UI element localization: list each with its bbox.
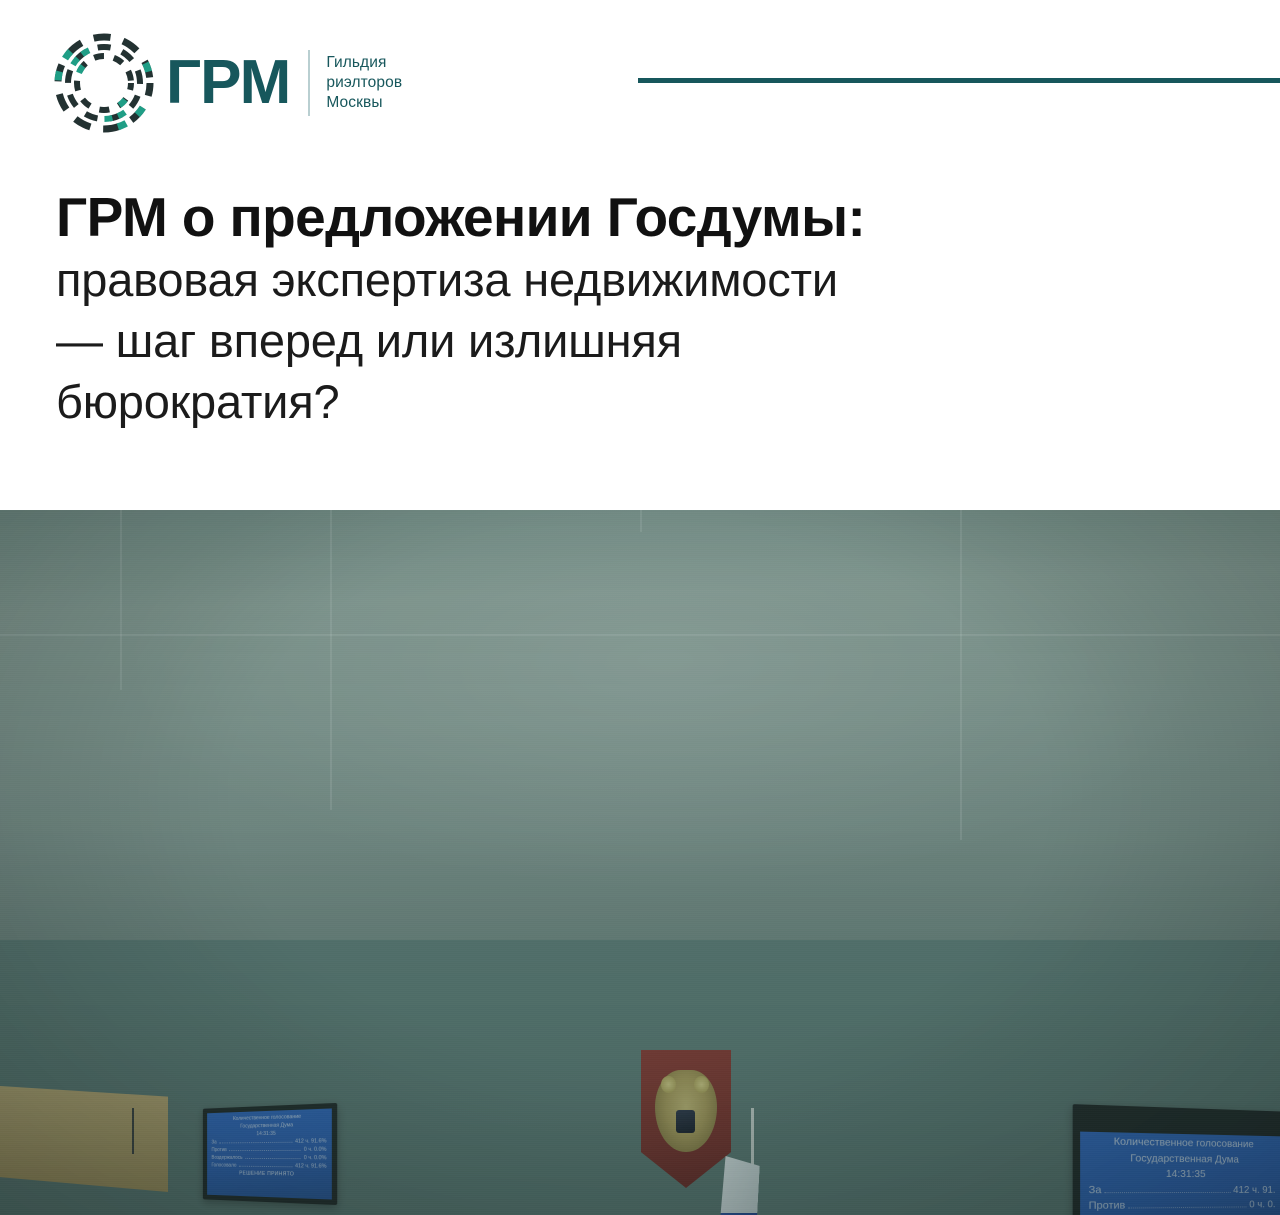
microphone [132,1108,134,1154]
board-left-row: Против0 ч. 0.0% [211,1146,326,1154]
circular-dashed-ring-logo-icon [52,31,156,135]
wall-seam [640,510,642,532]
board-left-row-value: 0 ч. 0.0% [304,1154,327,1162]
voting-board-left: Количественное голосование Государственн… [203,1103,337,1205]
board-left-row-value: 412 ч. 91.6% [295,1137,326,1146]
board-right-row-label: Против [1089,1198,1126,1214]
header-rule [638,78,1280,83]
wall-seam [960,510,962,840]
board-right-row-value: 0 ч. 0. [1249,1198,1275,1213]
brand-tagline: Гильдия риэлторов Москвы [326,53,402,113]
brand-tagline-line-2: риэлторов [326,73,402,93]
board-left-row-value: 0 ч. 0.0% [304,1146,327,1154]
voting-board-right-screen: Количественное голосование Государственн… [1080,1132,1280,1215]
board-right-row: За412 ч. 91. [1089,1182,1276,1198]
board-left-result: РЕШЕНИЕ ПРИНЯТО [211,1169,326,1179]
voting-board-right: Количественное голосование Государственн… [1073,1104,1280,1215]
board-left-row: Голосовало412 ч. 91.6% [211,1162,326,1171]
board-left-row-label: За [211,1139,216,1147]
board-left-row-value: 412 ч. 91.6% [295,1162,326,1171]
wall-seam [120,510,122,690]
board-left-row-label: Против [211,1146,226,1154]
voting-board-left-screen: Количественное голосование Государственн… [207,1108,332,1199]
board-right-title-2: Государственная Дума [1089,1150,1276,1168]
brand-tagline-line-1: Гильдия [326,53,402,73]
header: ГРМ Гильдия риэлторов Москвы ГРМ о предл… [0,0,1280,510]
board-left-row-label: Голосовало [211,1162,236,1170]
social-card: ГРМ Гильдия риэлторов Москвы ГРМ о предл… [0,0,1280,1215]
eagle-center-shield [676,1110,695,1133]
brand-lockup: ГРМ Гильдия риэлторов Москвы [52,33,402,133]
board-right-row-value: 412 ч. 91. [1233,1183,1275,1198]
board-right-time: 14:31:35 [1089,1166,1276,1183]
title-line-3: — шаг вперед или излишняя [56,310,1256,371]
title-line-1: ГРМ о предложении Госдумы: [56,186,1256,249]
brand-tagline-line-3: Москвы [326,93,402,113]
page-title: ГРМ о предложении Госдумы: правовая эксп… [56,186,1256,432]
wall-lighting [0,510,1280,940]
title-line-4: бюрократия? [56,371,1256,432]
board-right-row-label: За [1089,1182,1102,1198]
wall-seam [0,634,1280,636]
brand-wordmark: ГРМ [166,52,290,114]
brand-divider [308,50,310,116]
russian-tricolor-flag-icon [712,1156,761,1215]
eagle-head-right [694,1076,709,1093]
left-wall-panel [0,1086,168,1192]
wall-seam [330,510,332,810]
eagle-head-left [661,1076,676,1093]
duma-hall-photo: Количественное голосование Государственн… [0,510,1280,1215]
title-line-2: правовая экспертиза недвижимости [56,249,1256,310]
